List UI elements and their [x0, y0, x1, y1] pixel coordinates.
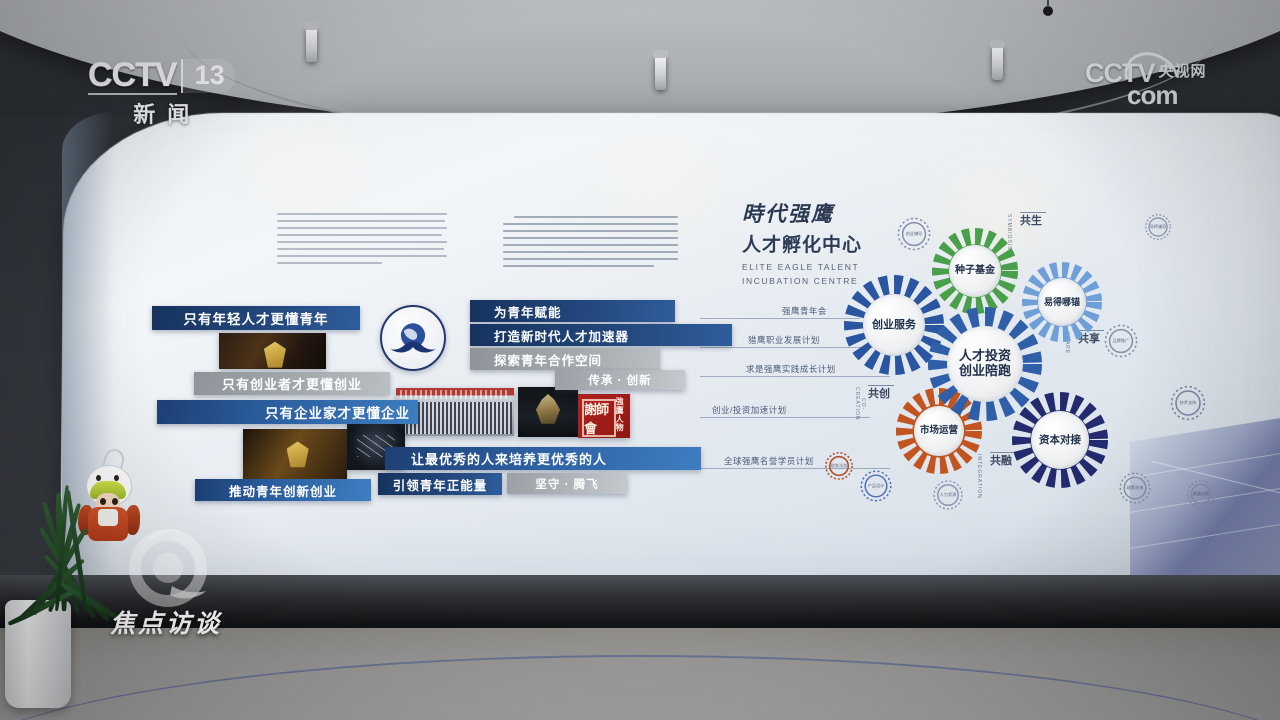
program-name: 焦点访谈 — [110, 604, 222, 640]
photo-bronze — [518, 387, 578, 437]
program-list-item-4: 全球强鹰名誉学员计划 — [724, 455, 814, 467]
mini-gear-6-label: 人力资源 — [931, 478, 965, 512]
banner-empower-youth: 为青年赋能 — [470, 300, 675, 322]
paragraph-chinese — [503, 216, 678, 272]
mini-gear-6: 人力资源 — [931, 478, 965, 512]
mini-gear-5-label: 财务法务 — [823, 450, 855, 482]
banner-business-understand: 只有企业家才更懂企业 — [157, 400, 418, 424]
channel-number: 13 — [181, 59, 235, 93]
mini-gear-2-label: 技术支持 — [1168, 383, 1208, 423]
paragraph-english — [277, 213, 447, 269]
value-tag-2-en: CO-CREATION — [854, 387, 866, 420]
program-list-rule-0 — [700, 318, 860, 319]
mini-gear-1-label: 品牌推广 — [1102, 322, 1140, 360]
banner-inherit-innovate: 传承 · 创新 — [555, 370, 685, 390]
mini-gear-5: 财务法务 — [823, 450, 855, 482]
banner-talent-accelerator: 打造新时代人才加速器 — [470, 324, 732, 346]
ceiling-sensor-icon — [1043, 6, 1053, 16]
wall-title-en-1: ELITE EAGLE TALENT — [742, 261, 922, 274]
mini-gear-2: 技术支持 — [1168, 383, 1208, 423]
mini-gear-4-label: 产品设计 — [858, 468, 894, 504]
gear-center-label-1: 人才投资 — [959, 349, 1011, 364]
value-tag-2: 共创 CO-CREATION — [868, 385, 890, 401]
mini-gear-8-label: 导师辅导 — [1143, 212, 1173, 242]
gear-center-hub: 人才投资 创业陪跑 — [947, 326, 1023, 402]
banner-best-cultivate: 让最优秀的人来培养更优秀的人 — [385, 447, 701, 470]
spotlight-3 — [992, 46, 1003, 80]
banner-cooperation-space: 探索青年合作空间 — [470, 348, 660, 370]
value-tag-0: 共生 SYMBIOSIS — [1020, 212, 1042, 228]
channel-logo: CCTV 13 新闻 — [88, 56, 235, 129]
value-tag-3-cn: 共融 — [990, 456, 1012, 468]
value-tag-0-cn: 共生 — [1020, 216, 1042, 228]
mini-gear-0: 创业辅导 — [895, 215, 933, 253]
mini-gear-1: 品牌推广 — [1102, 322, 1140, 360]
banner-persist-soar: 坚守 · 腾飞 — [507, 473, 627, 494]
mini-gear-0-label: 创业辅导 — [895, 215, 933, 253]
banner-youth-understand: 只有年轻人才更懂青年 — [152, 306, 360, 330]
photo-seal: 謝師會 強鷹人物 — [578, 394, 630, 438]
gear-resource-docking-label: 易得哪锚 — [1038, 278, 1086, 326]
banner-entrepreneur-understand: 只有创业者才更懂创业 — [194, 372, 390, 395]
program-list-item-2: 求是强鹰实践成长计划 — [746, 363, 836, 375]
banner-lead-energy: 引领青年正能量 — [378, 473, 502, 495]
mini-gear-3-label: 政策咨询 — [1117, 470, 1153, 506]
mini-gear-4: 产品设计 — [858, 468, 894, 504]
cctv-com-watermark: CCTV 央视网 com — [1085, 58, 1207, 89]
channel-logo-word: CCTV — [88, 56, 177, 95]
watermark-com-word: com — [1127, 80, 1177, 111]
mini-gear-7-label: 渠道对接 — [1185, 478, 1217, 510]
mini-gear-3: 政策咨询 — [1117, 470, 1153, 506]
value-tag-2-cn: 共创 — [868, 389, 890, 401]
gear-seed-fund: 种子基金 — [932, 228, 1018, 314]
plant-vase — [5, 600, 71, 708]
mini-gear-7: 渠道对接 — [1185, 478, 1217, 510]
channel-subtitle: 新闻 — [88, 97, 235, 129]
gear-center-talent-investment: 人才投资 创业陪跑 — [928, 307, 1042, 421]
value-tag-3: 共融 INTEGRATION — [990, 452, 1012, 468]
program-list-rule-2 — [700, 376, 890, 377]
program-list-item-3: 创业/投资加速计划 — [712, 404, 787, 416]
program-list-rule-3 — [700, 417, 870, 418]
mini-gear-8: 导师辅导 — [1143, 212, 1173, 242]
program-list-item-0: 强鹰青年会 — [782, 305, 827, 317]
program-list-item-1: 猎鹰职业发展计划 — [748, 334, 820, 346]
banner-promote-innovation: 推动青年创新创业 — [195, 479, 371, 501]
gear-startup-service-label: 创业服务 — [863, 294, 925, 356]
spotlight-2 — [655, 56, 666, 90]
light-glow-1 — [228, 118, 378, 208]
photo-gavel — [243, 429, 347, 481]
eagle-globe-emblem-icon — [380, 305, 446, 371]
gear-center-label-2: 创业陪跑 — [959, 364, 1011, 379]
spotlight-1 — [306, 28, 317, 62]
photo-medal — [219, 333, 326, 369]
photo-seal-side-text: 強鷹人物 — [612, 401, 628, 430]
broadcast-frame: 時代强鹰 人才孵化中心 ELITE EAGLE TALENT INCUBATIO… — [0, 0, 1280, 720]
gear-seed-fund-label: 种子基金 — [949, 245, 1001, 297]
